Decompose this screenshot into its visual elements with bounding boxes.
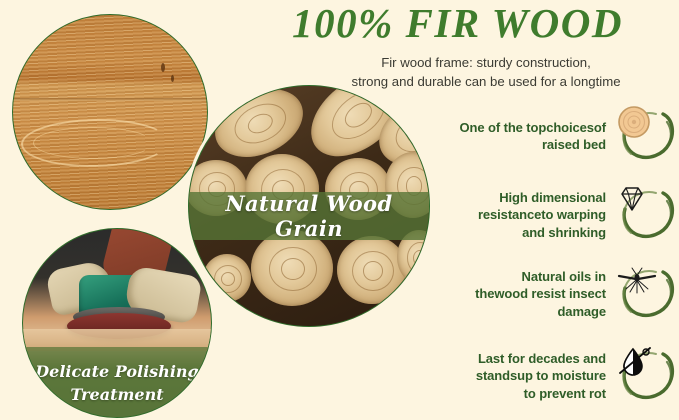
feature-text: One of the topchoicesof raised bed [460, 119, 617, 154]
stump-glyph [617, 105, 679, 167]
caption-line-1: Delicate Polishing [35, 360, 198, 383]
log-end [251, 230, 333, 306]
water-droplet-icon [617, 345, 679, 407]
feature-item: High dimensional resistanceto warping an… [412, 179, 679, 251]
feature-item: Natural oils in thewood resist insect da… [412, 258, 679, 330]
feature-line-1: Natural oils in [522, 269, 606, 284]
feature-item: One of the topchoicesof raised bed [412, 100, 679, 172]
diamond-glyph [617, 184, 679, 246]
feature-line-3: damage [557, 304, 606, 319]
diamond-icon [617, 184, 679, 246]
photo-stacked-logs: Natural Wood Grain [188, 85, 430, 327]
log-end [337, 236, 407, 304]
feature-text: High dimensional resistanceto warping an… [478, 189, 617, 241]
feature-line-2: standsup to moisture [476, 368, 606, 383]
caption-delicate-polishing: Delicate Polishing Treatment [23, 347, 211, 418]
feature-line-1: High dimensional [499, 190, 606, 205]
mosquito-glyph [617, 263, 679, 325]
feature-text: Natural oils in thewood resist insect da… [475, 268, 617, 320]
grain-seam [13, 98, 207, 101]
feature-line-2: resistanceto warping [478, 207, 606, 222]
feature-line-3: and shrinking [522, 225, 606, 240]
feature-item: Last for decades and standsup to moistur… [412, 340, 679, 412]
droplet-glyph [617, 345, 679, 407]
caption-line-2: Treatment [70, 383, 163, 406]
log-end [203, 254, 251, 302]
caption-line-1: Natural Wood Grain [189, 191, 429, 241]
feature-text: Last for decades and standsup to moistur… [476, 350, 617, 402]
feature-line-3: to prevent rot [524, 386, 606, 401]
caption-natural-wood-grain: Natural Wood Grain [189, 192, 429, 240]
mosquito-icon [617, 263, 679, 325]
feature-line-1: One of the topchoicesof [460, 120, 606, 135]
wood-knot-icon [161, 63, 165, 72]
feature-line-2: thewood resist insect [475, 286, 606, 301]
page-title: 100% FIR WOOD [236, 2, 679, 45]
product-infographic: 100% FIR WOOD Fir wood frame: sturdy con… [0, 0, 679, 420]
photo-sanding-polishing: Delicate Polishing Treatment [22, 228, 212, 418]
tree-stump-icon [617, 105, 679, 167]
grain-arc [33, 127, 153, 159]
feature-line-1: Last for decades and [478, 351, 606, 366]
feature-line-2: raised bed [542, 137, 606, 152]
wood-knot-icon [171, 75, 174, 82]
subtitle-line-1: Fir wood frame: sturdy construction, [381, 55, 591, 70]
feature-list: One of the topchoicesof raised bed [412, 100, 679, 420]
photo-wood-grain-board [12, 14, 208, 210]
